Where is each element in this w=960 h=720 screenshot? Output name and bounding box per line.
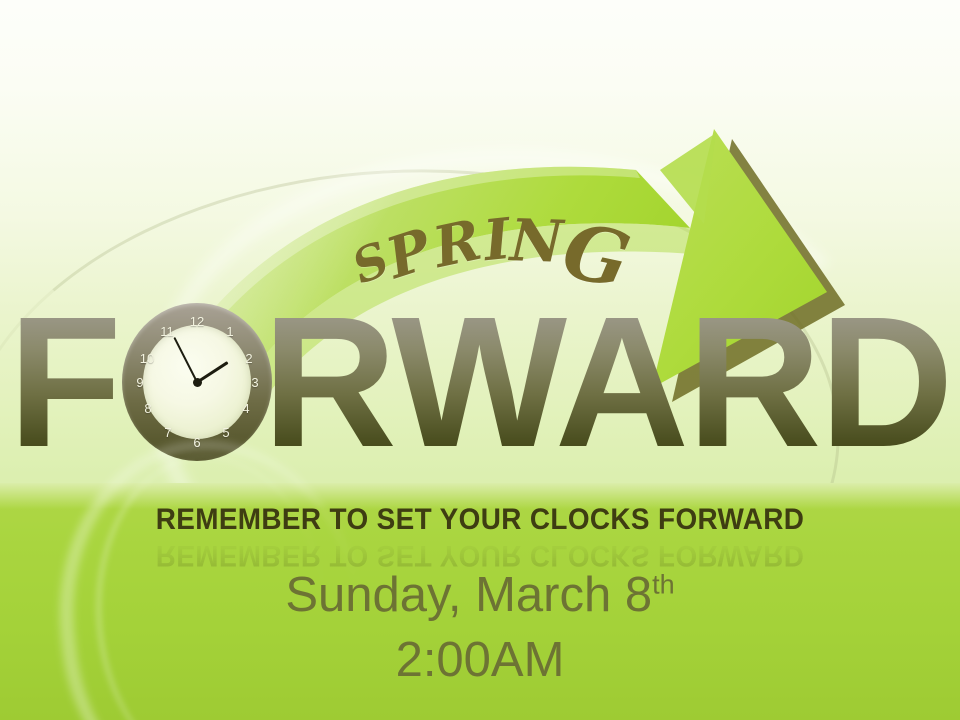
clock-numeral-5: 5 xyxy=(217,426,235,439)
subtitle-text: REMEMBER TO SET YOUR CLOCKS FORWARD xyxy=(34,503,927,537)
clock-numeral-7: 7 xyxy=(159,426,177,439)
date-text: Sunday, March 8 xyxy=(285,568,652,622)
script-letter-r: R xyxy=(429,212,486,276)
clock-numeral-1: 1 xyxy=(221,325,239,338)
script-letter-i: I xyxy=(481,211,513,269)
clock-numeral-12: 12 xyxy=(188,315,206,328)
script-letter-p: P xyxy=(380,221,437,287)
date-ordinal-suffix: th xyxy=(652,570,675,600)
analog-clock: 12 1 2 3 4 5 6 7 8 9 10 11 xyxy=(122,303,272,461)
clock-numeral-9: 9 xyxy=(131,376,149,389)
clock-numeral-11: 11 xyxy=(158,325,176,338)
clock-numeral-6: 6 xyxy=(188,436,206,449)
clock-numeral-2: 2 xyxy=(240,352,258,365)
script-letter-n: N xyxy=(509,211,564,271)
time-line: 2:00AM xyxy=(0,632,960,688)
spring-forward-slide: S P R I N G FORWARD 12 1 2 3 4 5 6 7 8 9… xyxy=(0,0,960,720)
clock-numeral-4: 4 xyxy=(237,402,255,415)
clock-numeral-8: 8 xyxy=(139,402,157,415)
date-line: Sunday, March 8th xyxy=(0,567,960,623)
clock-numeral-10: 10 xyxy=(138,352,156,365)
clock-numeral-3: 3 xyxy=(246,376,264,389)
clock-center-hub xyxy=(193,378,202,387)
